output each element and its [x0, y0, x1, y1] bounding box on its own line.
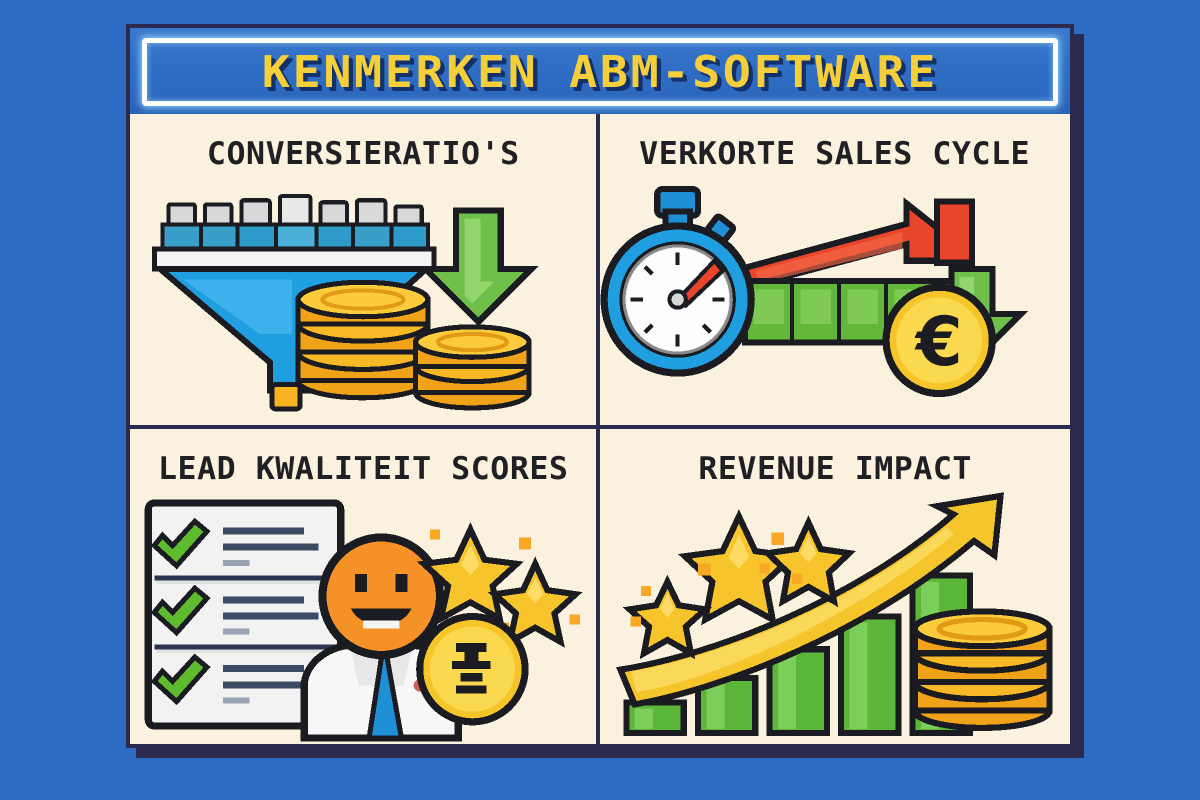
infographic-card: KENMERKEN ABM-SOFTWARE CONVERSIERATIO'S [126, 24, 1074, 748]
panel-lead-kwaliteit-scores: LEAD KWALITEIT SCORES [130, 429, 600, 744]
panel-art-revenue-impact [600, 487, 1070, 744]
svg-text:€: € [914, 302, 963, 381]
panel-art-conversieratios [130, 172, 596, 425]
panel-title-lead-kwaliteit-scores: LEAD KWALITEIT SCORES [158, 451, 568, 487]
title-banner-frame: KENMERKEN ABM-SOFTWARE [142, 38, 1058, 106]
coin-icon [420, 617, 525, 722]
panel-title-verkorte-sales-cycle: VERKORTE SALES CYCLE [640, 136, 1031, 172]
panel-art-verkorte-sales-cycle: € [600, 172, 1070, 425]
euro-coin-icon: € [886, 287, 992, 393]
page-title: KENMERKEN ABM-SOFTWARE [262, 47, 938, 98]
green-down-arrow-icon [426, 210, 531, 321]
panel-art-lead-kwaliteit-scores [130, 487, 596, 744]
panel-title-conversieratios: CONVERSIERATIO'S [207, 136, 520, 172]
panel-revenue-impact: REVENUE IMPACT [600, 429, 1070, 744]
title-banner: KENMERKEN ABM-SOFTWARE [130, 28, 1070, 114]
panel-title-revenue-impact: REVENUE IMPACT [698, 451, 972, 487]
red-rising-arrow-icon [741, 201, 972, 285]
people-group-icon [154, 196, 434, 269]
stopwatch-icon [604, 189, 751, 373]
panel-verkorte-sales-cycle: VERKORTE SALES CYCLE [600, 114, 1070, 429]
coin-stack-icon [915, 611, 1050, 727]
panel-grid: CONVERSIERATIO'S [130, 114, 1070, 744]
panel-conversieratios: CONVERSIERATIO'S [130, 114, 600, 429]
